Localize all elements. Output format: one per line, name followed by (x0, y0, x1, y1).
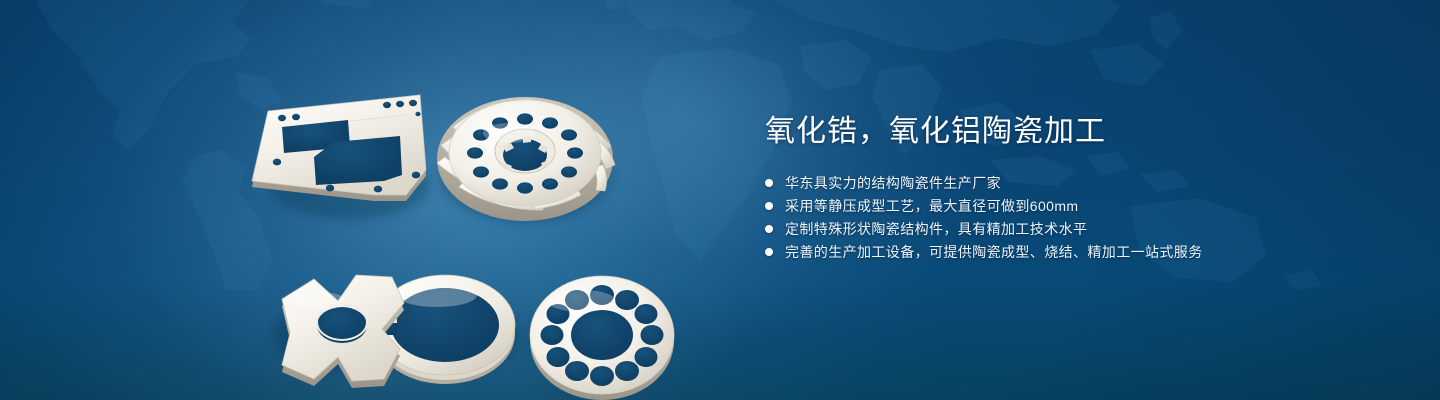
feature-text: 定制特殊形状陶瓷结构件，具有精加工技术水平 (785, 220, 1087, 238)
bullet-dot-icon (765, 248, 773, 256)
feature-list: 华东具实力的结构陶瓷件生产厂家 采用等静压成型工艺，最大直径可做到600mm 定… (765, 174, 1365, 261)
bullet-dot-icon (765, 225, 773, 233)
feature-text: 完善的生产加工设备，可提供陶瓷成型、烧结、精加工一站式服务 (785, 243, 1203, 261)
bullet-dot-icon (765, 202, 773, 210)
product-photo-group (230, 35, 730, 380)
feature-text: 采用等静压成型工艺，最大直径可做到600mm (785, 197, 1078, 215)
feature-item: 采用等静压成型工艺，最大直径可做到600mm (765, 197, 1365, 215)
feature-item: 完善的生产加工设备，可提供陶瓷成型、烧结、精加工一站式服务 (765, 243, 1365, 261)
banner-copy: 氧化锆，氧化铝陶瓷加工 华东具实力的结构陶瓷件生产厂家 采用等静压成型工艺，最大… (765, 112, 1365, 266)
hero-banner: 氧化锆，氧化铝陶瓷加工 华东具实力的结构陶瓷件生产厂家 采用等静压成型工艺，最大… (0, 0, 1440, 400)
ceramic-cross-part (282, 275, 404, 388)
bullet-dot-icon (765, 179, 773, 187)
ceramic-plate (252, 95, 426, 201)
feature-item: 定制特殊形状陶瓷结构件，具有精加工技术水平 (765, 220, 1365, 238)
banner-title: 氧化锆，氧化铝陶瓷加工 (765, 112, 1365, 152)
ceramic-perforated-disc (530, 276, 674, 400)
feature-text: 华东具实力的结构陶瓷件生产厂家 (785, 174, 1001, 192)
feature-item: 华东具实力的结构陶瓷件生产厂家 (765, 174, 1365, 192)
